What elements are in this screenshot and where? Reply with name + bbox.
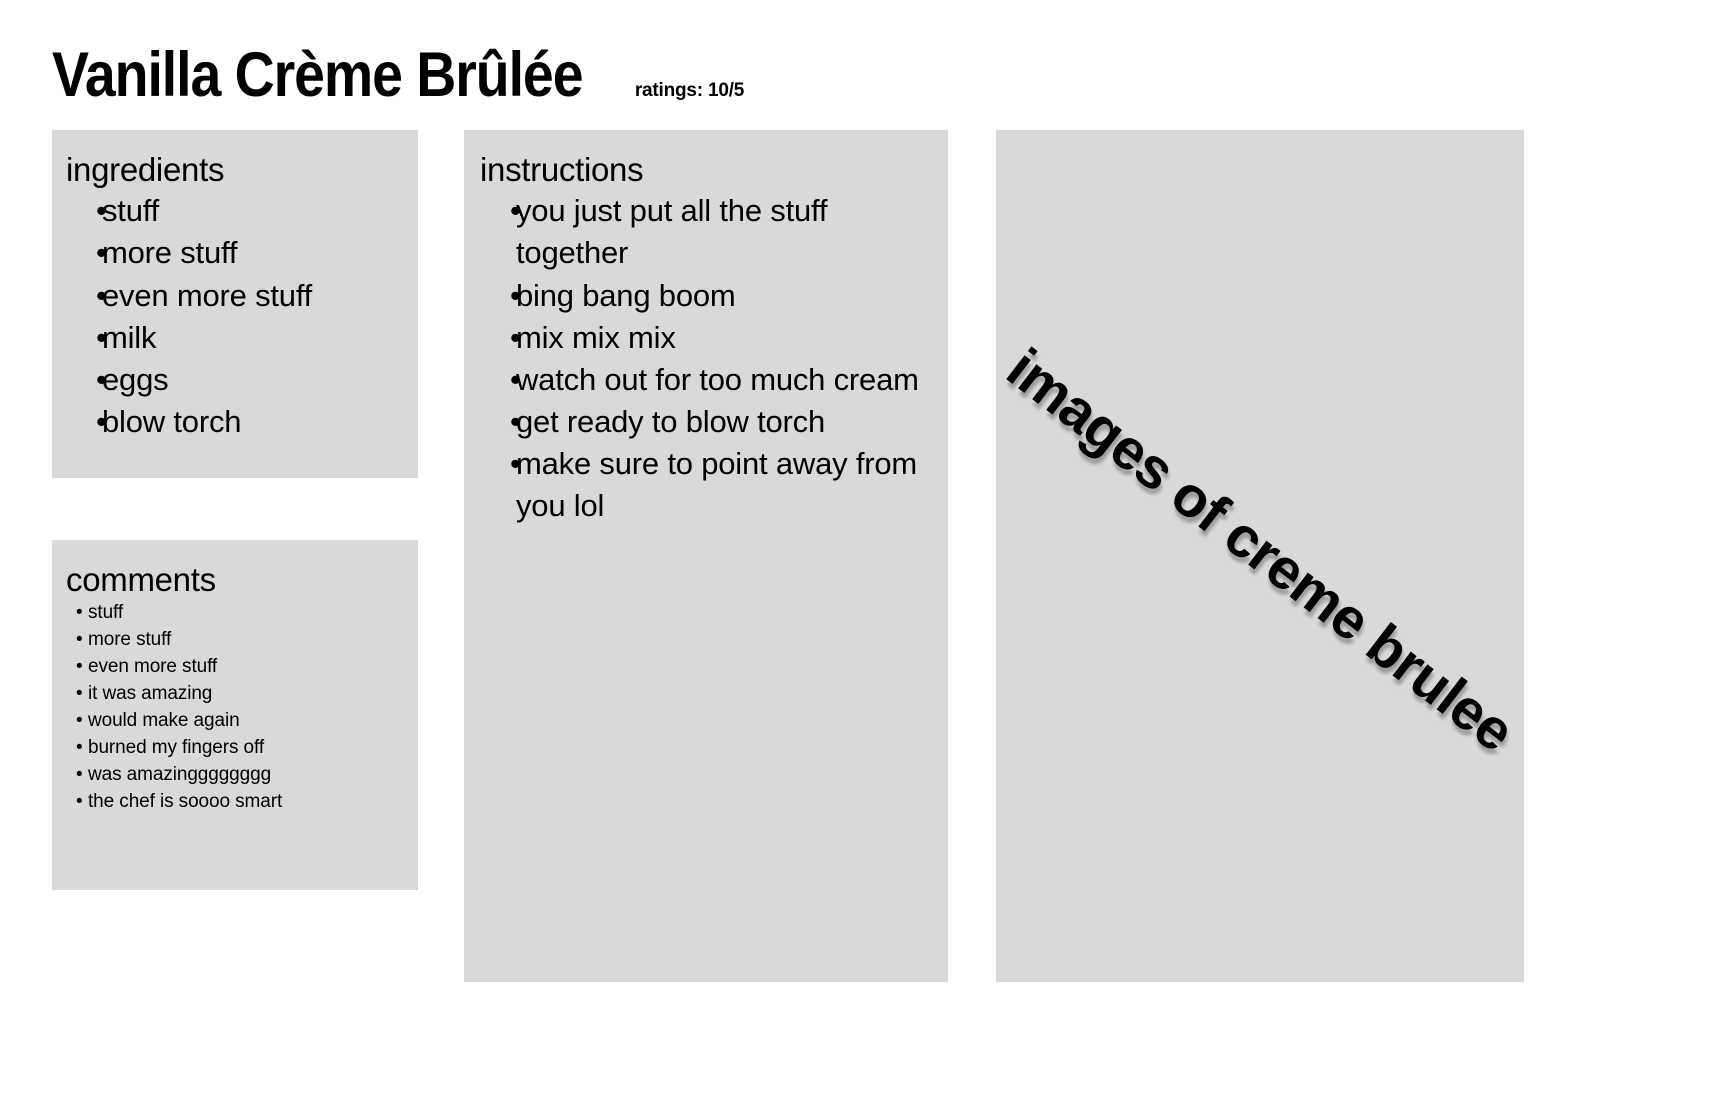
- bullet-icon: •: [66, 708, 88, 735]
- bullet-icon: •: [480, 359, 516, 401]
- ingredient-item-label: stuff: [102, 190, 400, 232]
- instruction-item-label: mix mix mix: [516, 317, 930, 359]
- bullet-icon: •: [480, 317, 516, 359]
- bullet-icon: •: [66, 681, 88, 708]
- instruction-item-label: bing bang boom: [516, 275, 930, 317]
- instruction-item-label: you just put all the stuff together: [516, 190, 930, 274]
- bullet-icon: •: [66, 789, 88, 816]
- instructions-list: •you just put all the stuff together•bin…: [480, 190, 930, 527]
- bullet-icon: •: [66, 275, 102, 317]
- bullet-icon: •: [66, 627, 88, 654]
- bullet-icon: •: [480, 443, 516, 485]
- comment-item: •the chef is soooo smart: [66, 789, 400, 816]
- instruction-item: •get ready to blow torch: [480, 401, 930, 443]
- comment-item: •it was amazing: [66, 681, 400, 708]
- comment-item: •was amazingggggggg: [66, 762, 400, 789]
- instruction-item-label: get ready to blow torch: [516, 401, 930, 443]
- comment-item-label: more stuff: [88, 627, 400, 654]
- comment-item-label: burned my fingers off: [88, 735, 400, 762]
- comment-item: •even more stuff: [66, 654, 400, 681]
- ingredient-item-label: blow torch: [102, 401, 400, 443]
- ingredient-item-label: even more stuff: [102, 275, 400, 317]
- comments-list: •stuff•more stuff•even more stuff•it was…: [66, 600, 400, 816]
- comment-item: •burned my fingers off: [66, 735, 400, 762]
- comment-item-label: would make again: [88, 708, 400, 735]
- bullet-icon: •: [66, 359, 102, 401]
- bullet-icon: •: [66, 190, 102, 232]
- bullet-icon: •: [480, 275, 516, 317]
- ingredient-item: •blow torch: [66, 401, 400, 443]
- comment-item: •stuff: [66, 600, 400, 627]
- comments-panel: comments •stuff•more stuff•even more stu…: [52, 540, 418, 890]
- instructions-panel: instructions •you just put all the stuff…: [464, 130, 948, 982]
- bullet-icon: •: [66, 654, 88, 681]
- instruction-item: •make sure to point away from you lol: [480, 443, 930, 527]
- comment-item: •more stuff: [66, 627, 400, 654]
- instruction-item: •bing bang boom: [480, 275, 930, 317]
- comment-item-label: it was amazing: [88, 681, 400, 708]
- page-title: Vanilla Crème Brûlée: [52, 44, 582, 107]
- ingredient-item: •more stuff: [66, 232, 400, 274]
- ingredient-item-label: milk: [102, 317, 400, 359]
- ingredient-item: •stuff: [66, 190, 400, 232]
- comment-item: •would make again: [66, 708, 400, 735]
- ingredients-panel: ingredients •stuff•more stuff•even more …: [52, 130, 418, 478]
- bullet-icon: •: [66, 232, 102, 274]
- instruction-item-label: make sure to point away from you lol: [516, 443, 930, 527]
- instruction-item: •mix mix mix: [480, 317, 930, 359]
- bullet-icon: •: [480, 401, 516, 443]
- ingredient-item-label: more stuff: [102, 232, 400, 274]
- ingredient-item: •eggs: [66, 359, 400, 401]
- bullet-icon: •: [66, 401, 102, 443]
- ingredient-item-label: eggs: [102, 359, 400, 401]
- ingredients-list: •stuff•more stuff•even more stuff•milk•e…: [66, 190, 400, 443]
- images-panel: images of creme brulee: [996, 130, 1524, 982]
- bullet-icon: •: [66, 600, 88, 627]
- bullet-icon: •: [66, 735, 88, 762]
- instructions-heading: instructions: [480, 152, 930, 188]
- comments-heading: comments: [66, 562, 400, 598]
- instruction-item: •you just put all the stuff together: [480, 190, 930, 274]
- bullet-icon: •: [66, 317, 102, 359]
- ratings-label: ratings: 10/5: [635, 80, 744, 102]
- comment-item-label: was amazingggggggg: [88, 762, 400, 789]
- ingredient-item: •milk: [66, 317, 400, 359]
- instruction-item-label: watch out for too much cream: [516, 359, 930, 401]
- instruction-item: •watch out for too much cream: [480, 359, 930, 401]
- ingredients-heading: ingredients: [66, 152, 400, 188]
- comment-item-label: the chef is soooo smart: [88, 789, 400, 816]
- bullet-icon: •: [66, 762, 88, 789]
- recipe-page: Vanilla Crème Brûlée ratings: 10/5 ingre…: [0, 0, 1728, 1117]
- ingredient-item: •even more stuff: [66, 275, 400, 317]
- images-placeholder-label: images of creme brulee: [996, 224, 1524, 878]
- comment-item-label: even more stuff: [88, 654, 400, 681]
- comment-item-label: stuff: [88, 600, 400, 627]
- bullet-icon: •: [480, 190, 516, 232]
- page-header: Vanilla Crème Brûlée ratings: 10/5: [52, 44, 806, 107]
